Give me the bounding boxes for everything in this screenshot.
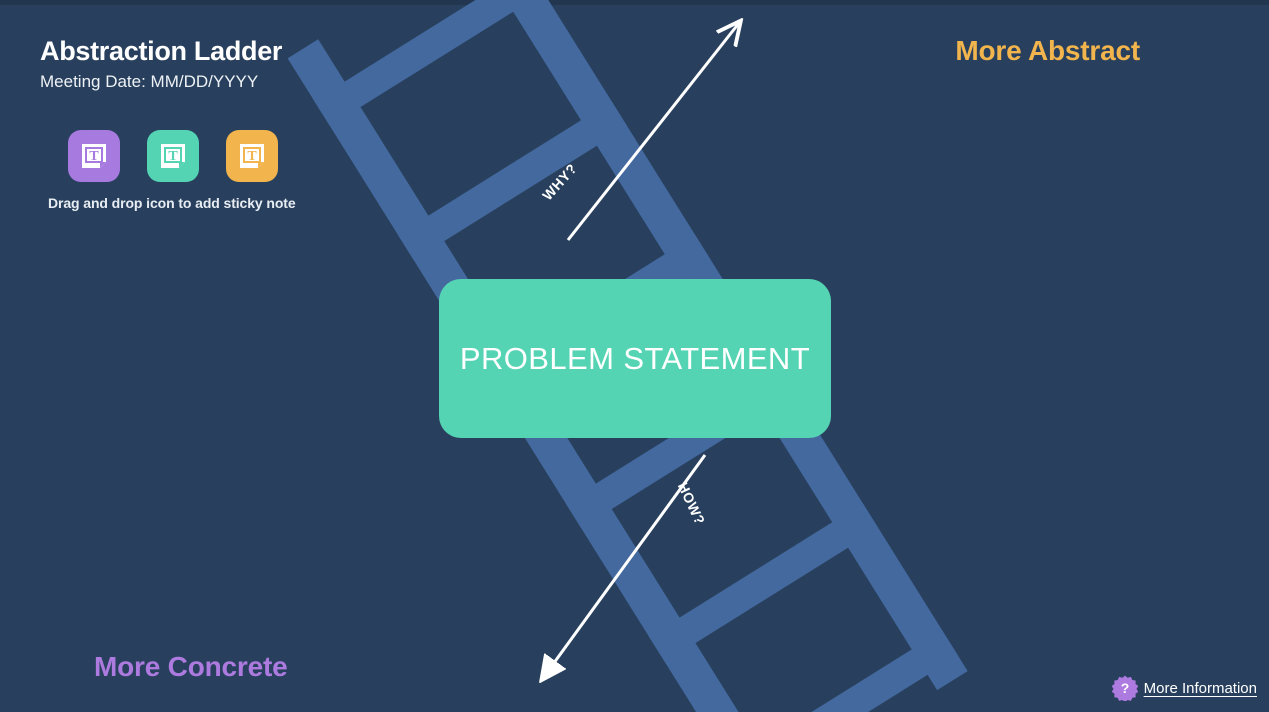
svg-text:?: ? [1120, 680, 1129, 696]
more-abstract-label: More Abstract [955, 35, 1140, 67]
page-title: Abstraction Ladder [40, 36, 460, 67]
svg-text:T: T [247, 149, 257, 164]
sticky-note-glyph: T [78, 140, 110, 172]
palette-hint-text: Drag and drop icon to add sticky note [48, 195, 296, 211]
sticky-note-icon-orange[interactable]: T [226, 130, 278, 182]
sticky-note-icon-teal[interactable]: T [147, 130, 199, 182]
meeting-date-label: Meeting Date: MM/DD/YYYY [40, 72, 460, 92]
ladder-rung [729, 630, 959, 712]
more-information-link[interactable]: ? More Information [1112, 675, 1257, 701]
sticky-note-glyph: T [236, 140, 268, 172]
svg-text:T: T [89, 149, 99, 164]
help-badge-icon: ? [1112, 675, 1138, 701]
slide-canvas: WHY? HOW? Abstraction Ladder Meeting Dat… [0, 0, 1269, 712]
problem-statement-card[interactable]: PROBLEM STATEMENT [439, 279, 831, 438]
svg-text:T: T [168, 149, 178, 164]
sticky-note-glyph: T [157, 140, 189, 172]
header-block: Abstraction Ladder Meeting Date: MM/DD/Y… [40, 36, 460, 92]
ladder-rung [398, 101, 628, 260]
sticky-note-palette: T T T [68, 130, 278, 182]
sticky-note-icon-purple[interactable]: T [68, 130, 120, 182]
more-information-text[interactable]: More Information [1144, 680, 1257, 697]
more-concrete-label: More Concrete [94, 651, 287, 683]
ladder-rung [649, 503, 879, 662]
problem-statement-text: PROBLEM STATEMENT [444, 341, 826, 377]
